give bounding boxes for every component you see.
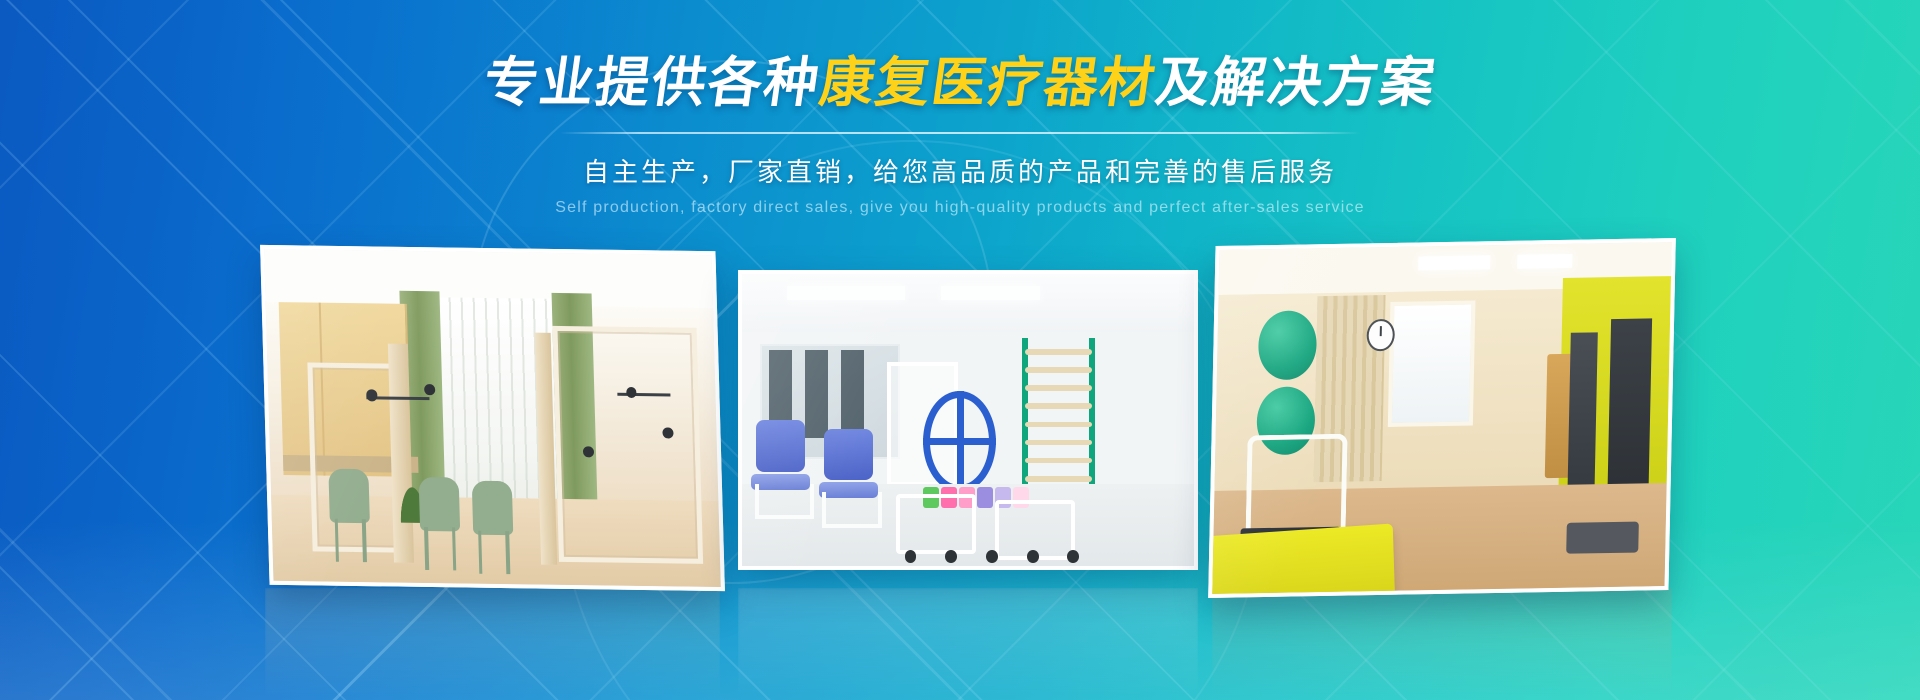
headline-part-3: 及 [1152,51,1217,114]
subtitle-chinese: 自主生产，厂家直销，给您高品质的产品和完善的售后服务 [0,152,1920,189]
photo-card-rehabilitation-training-room[interactable] [260,245,725,591]
headline-part-4: 解决方案 [1208,51,1441,114]
reflection-1 [265,588,720,698]
headline-part-2-highlight: 康复医疗器材 [816,51,1161,114]
headline-part-1: 专业提供各种 [480,51,825,114]
photo-card-rehab-ward-with-exercise-balls[interactable] [1208,238,1676,598]
photo-gallery [0,258,1920,588]
reflection-3 [1212,588,1672,698]
reflection-2 [738,588,1198,698]
headline: 专业提供各种康复医疗器材及解决方案 [480,56,1440,110]
banner-text-block: 专业提供各种康复医疗器材及解决方案 自主生产，厂家直销，给您高品质的产品和完善的… [0,56,1920,217]
scene-physio-hall [742,274,1194,566]
scene-rehab-ward [1212,242,1671,594]
promo-banner: 专业提供各种康复医疗器材及解决方案 自主生产，厂家直销，给您高品质的产品和完善的… [0,0,1920,700]
photo-reflections [0,588,1920,700]
scene-rehab-room [264,249,721,587]
headline-divider [560,132,1360,134]
photo-card-physiotherapy-equipment-hall[interactable] [738,270,1198,570]
subtitle-english: Self production, factory direct sales, g… [0,199,1920,217]
